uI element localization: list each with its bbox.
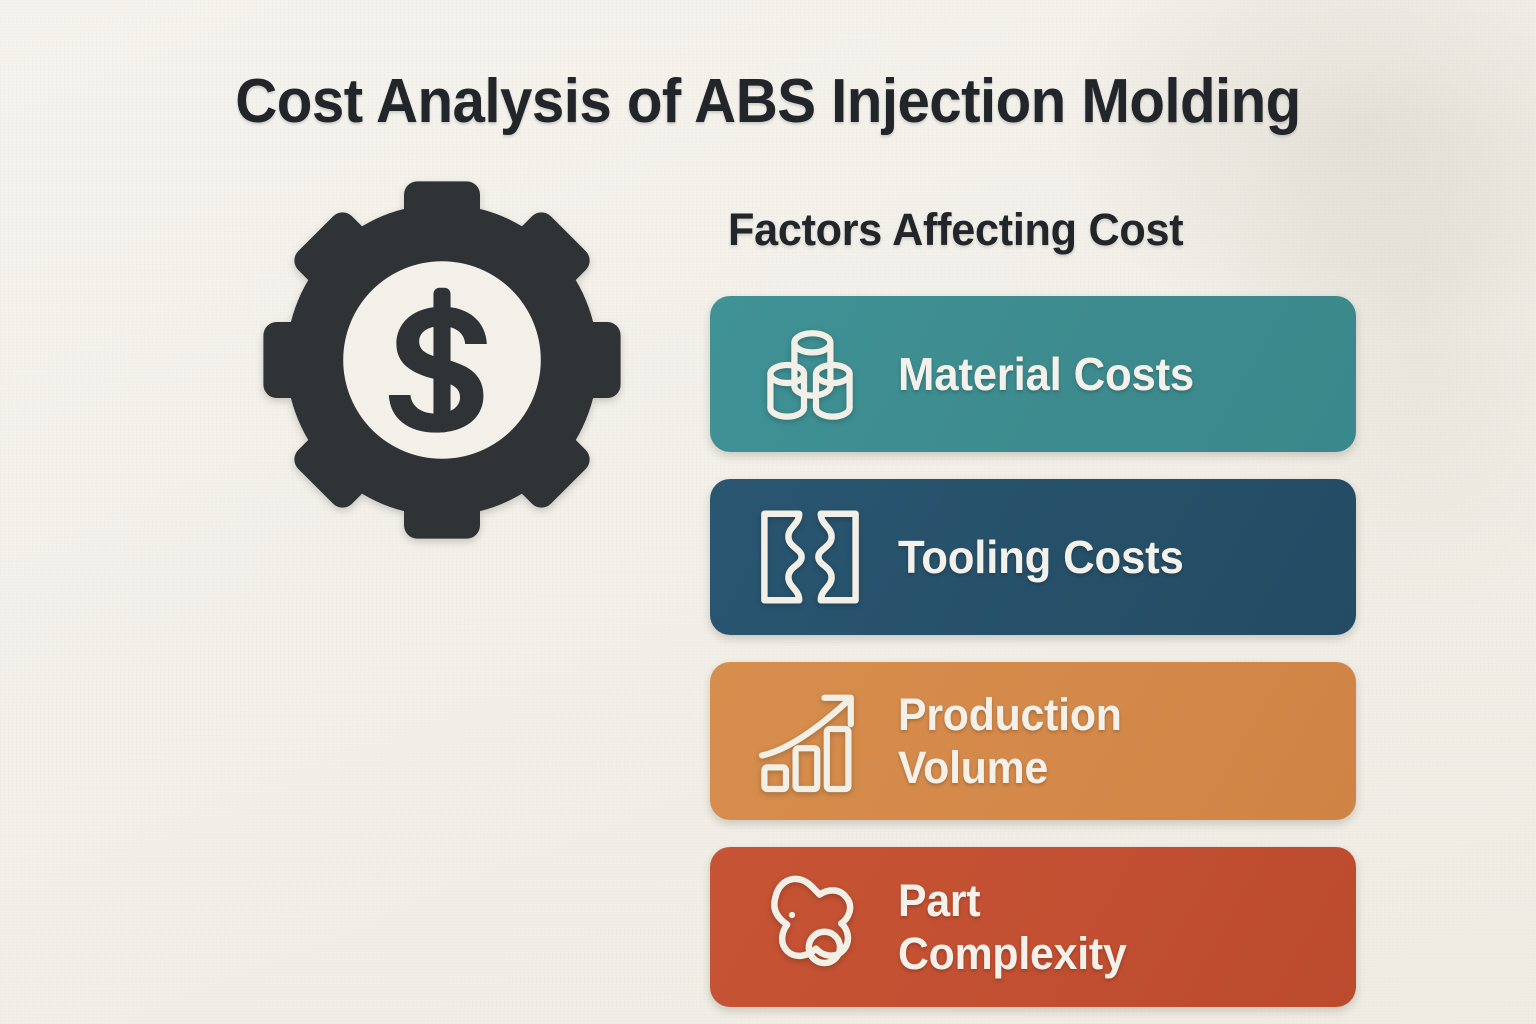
factor-card-label: Material Costs: [898, 347, 1194, 401]
infographic-poster: Cost Analysis of ABS Injection Molding: [0, 0, 1536, 1024]
gear-dollar-icon: [252, 170, 632, 550]
factors-panel: Factors Affecting Cost: [710, 204, 1358, 1024]
factor-card-label: Tooling Costs: [898, 530, 1184, 584]
growth-bar-chart-icon: [750, 681, 870, 801]
mold-halves-icon: [750, 497, 870, 617]
factor-card-label: Production Volume: [898, 688, 1122, 794]
factor-card-list: Material Costs Tooling Costs: [710, 296, 1358, 1007]
complex-part-blob-icon: [750, 867, 870, 987]
page-title: Cost Analysis of ABS Injection Molding: [46, 66, 1490, 137]
factor-card-tooling-costs[interactable]: Tooling Costs: [710, 479, 1356, 635]
factor-card-label: Part Complexity: [898, 874, 1127, 980]
factor-card-material-costs[interactable]: Material Costs: [710, 296, 1356, 452]
section-heading: Factors Affecting Cost: [728, 204, 1333, 256]
material-pellet-drums-icon: [750, 314, 870, 434]
factor-card-production-volume[interactable]: Production Volume: [710, 662, 1356, 820]
factor-card-part-complexity[interactable]: Part Complexity: [710, 847, 1356, 1007]
